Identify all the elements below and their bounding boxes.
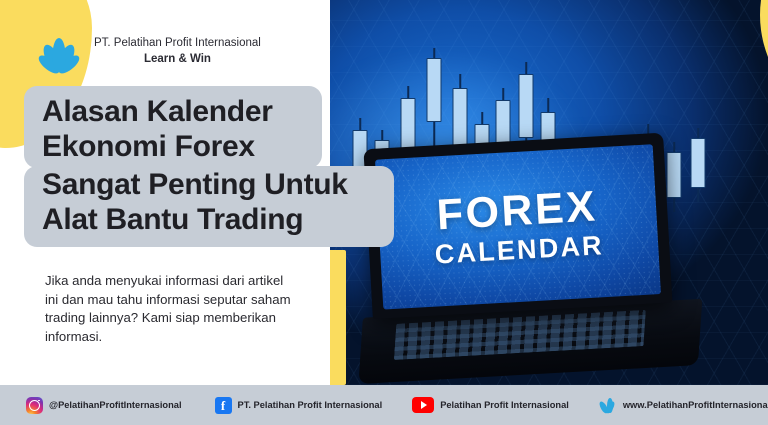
lotus-flower-icon (36, 30, 82, 74)
website-lotus-icon (597, 396, 617, 414)
brand-text: PT. Pelatihan Profit Internasional Learn… (94, 36, 261, 67)
laptop: FOREX CALENDAR (363, 131, 706, 385)
poster-canvas: FOREX CALENDAR PT. Pelatihan Profit Inte… (0, 0, 768, 425)
brand-header: PT. Pelatihan Profit Internasional Learn… (36, 30, 261, 74)
instagram-handle: @PelatihanProfitInternasional (49, 400, 182, 410)
body-paragraph: Jika anda menyukai informasi dari artike… (45, 272, 295, 347)
title-box-upper: Alasan Kalender Ekonomi Forex (24, 86, 322, 168)
forex-laptop-photo: FOREX CALENDAR (330, 0, 768, 385)
yellow-accent-strip (330, 250, 346, 385)
title-box-lower: Sangat Penting Untuk Alat Bantu Trading (24, 166, 394, 247)
laptop-lid: FOREX CALENDAR (363, 133, 672, 319)
facebook-icon: f (215, 397, 232, 414)
title-line-4: Alat Bantu Trading (42, 203, 376, 238)
title-line-2: Ekonomi Forex (42, 130, 304, 165)
brand-tagline: Learn & Win (94, 52, 261, 68)
footer-item-instagram[interactable]: @PelatihanProfitInternasional (26, 397, 182, 414)
youtube-icon (412, 397, 434, 413)
title-line-1: Alasan Kalender (42, 95, 304, 130)
facebook-page-name: PT. Pelatihan Profit Internasional (238, 400, 383, 410)
page-title: Alasan Kalender Ekonomi Forex Sangat Pen… (24, 86, 394, 247)
social-footer-bar: @PelatihanProfitInternasional f PT. Pela… (0, 385, 768, 425)
footer-item-website[interactable]: www.PelatihanProfitInternasional.com (597, 396, 768, 414)
youtube-channel-name: Pelatihan Profit Internasional (440, 400, 569, 410)
laptop-screen: FOREX CALENDAR (375, 144, 661, 309)
footer-item-facebook[interactable]: f PT. Pelatihan Profit Internasional (215, 397, 383, 414)
footer-item-youtube[interactable]: Pelatihan Profit Internasional (412, 397, 569, 413)
laptop-keyboard (394, 310, 646, 360)
brand-company-name: PT. Pelatihan Profit Internasional (94, 36, 261, 52)
screen-headline-forex: FOREX (436, 185, 599, 237)
website-url: www.PelatihanProfitInternasional.com (623, 400, 768, 410)
instagram-icon (26, 397, 43, 414)
title-line-3: Sangat Penting Untuk (42, 168, 376, 203)
